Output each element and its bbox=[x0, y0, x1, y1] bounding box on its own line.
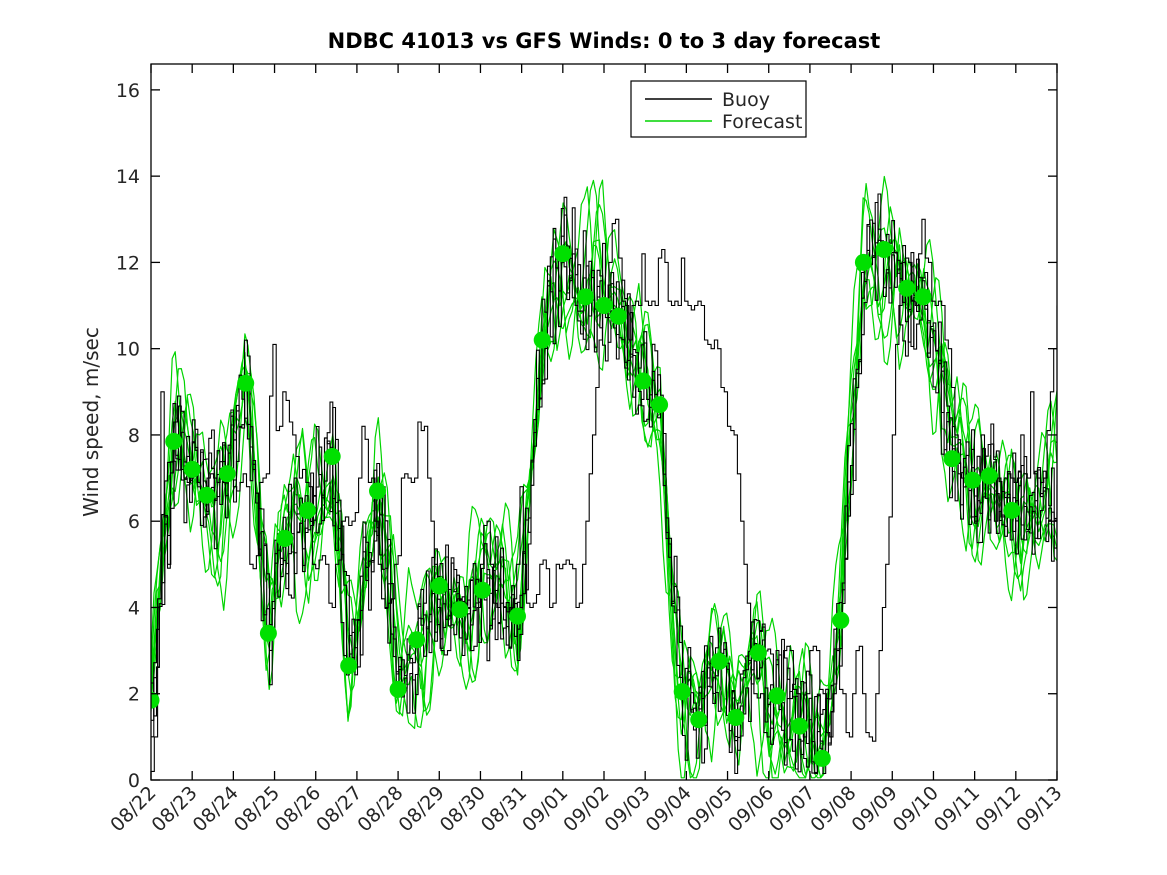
forecast-marker bbox=[915, 288, 932, 305]
forecast-marker bbox=[711, 653, 728, 670]
forecast-marker bbox=[509, 608, 526, 625]
y-tick-label: 4 bbox=[128, 597, 140, 619]
chart-figure: NDBC 41013 vs GFS Winds: 0 to 3 day fore… bbox=[0, 0, 1167, 875]
forecast-marker bbox=[769, 687, 786, 704]
chart-canvas: NDBC 41013 vs GFS Winds: 0 to 3 day fore… bbox=[0, 0, 1167, 875]
forecast-marker bbox=[431, 577, 448, 594]
forecast-marker bbox=[855, 254, 872, 271]
forecast-marker bbox=[690, 711, 707, 728]
forecast-marker bbox=[981, 467, 998, 484]
forecast-marker bbox=[184, 461, 201, 478]
forecast-marker bbox=[651, 396, 668, 413]
forecast-marker bbox=[276, 530, 293, 547]
legend-label-buoy: Buoy bbox=[722, 89, 770, 111]
plot-area-background bbox=[151, 64, 1057, 780]
y-tick-label: 16 bbox=[116, 80, 140, 102]
forecast-marker bbox=[750, 644, 767, 661]
y-tick-label: 6 bbox=[128, 511, 140, 533]
forecast-marker bbox=[727, 709, 744, 726]
forecast-marker bbox=[219, 465, 236, 482]
forecast-marker bbox=[198, 487, 215, 504]
forecast-marker bbox=[451, 601, 468, 618]
forecast-marker bbox=[832, 612, 849, 629]
forecast-marker bbox=[554, 245, 571, 262]
forecast-marker bbox=[596, 297, 613, 314]
forecast-marker bbox=[1003, 502, 1020, 519]
forecast-marker bbox=[635, 373, 652, 390]
legend: Buoy Forecast bbox=[631, 81, 806, 137]
y-tick-label: 2 bbox=[128, 684, 140, 706]
forecast-marker bbox=[165, 433, 182, 450]
forecast-marker bbox=[898, 280, 915, 297]
forecast-marker bbox=[876, 241, 893, 258]
forecast-marker bbox=[340, 657, 357, 674]
forecast-marker bbox=[814, 750, 831, 767]
forecast-marker bbox=[944, 450, 961, 467]
chart-title: NDBC 41013 vs GFS Winds: 0 to 3 day fore… bbox=[328, 29, 881, 53]
forecast-marker bbox=[964, 472, 981, 489]
forecast-marker bbox=[324, 448, 341, 465]
y-tick-label: 10 bbox=[116, 339, 140, 361]
forecast-marker bbox=[610, 308, 627, 325]
y-tick-label: 14 bbox=[116, 166, 140, 188]
forecast-marker bbox=[474, 582, 491, 599]
forecast-marker bbox=[408, 631, 425, 648]
forecast-marker bbox=[674, 683, 691, 700]
forecast-marker bbox=[534, 332, 551, 349]
forecast-marker bbox=[369, 483, 386, 500]
y-tick-label: 8 bbox=[128, 425, 140, 447]
y-axis-label: Wind speed, m/sec bbox=[79, 327, 103, 517]
forecast-marker bbox=[260, 625, 277, 642]
forecast-marker bbox=[390, 681, 407, 698]
legend-label-forecast: Forecast bbox=[722, 111, 802, 133]
forecast-marker bbox=[237, 375, 254, 392]
forecast-marker bbox=[577, 288, 594, 305]
y-tick-label: 12 bbox=[116, 252, 140, 274]
forecast-marker bbox=[791, 718, 808, 735]
forecast-marker bbox=[299, 502, 316, 519]
